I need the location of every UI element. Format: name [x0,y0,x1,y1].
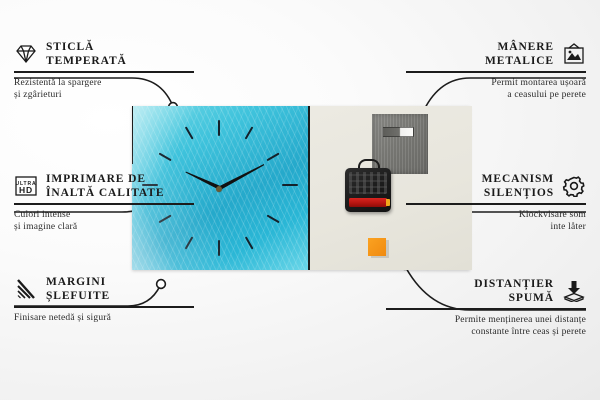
divider [14,71,194,73]
down-arrow-pad-icon [562,280,586,302]
ultra-hd-icon: ultra HD [14,175,38,197]
divider [386,308,586,310]
svg-text:HD: HD [19,185,33,195]
feature-title-line1: STICLĂ [46,41,94,53]
feature-title-line2: TEMPERATĂ [46,55,127,67]
feature-subtitle: Finisare netedă și sigură [14,312,194,324]
feature-title-line2: ȘLEFUITE [46,290,110,302]
feature-heading: MÂNERE METALICE [406,40,586,68]
clock-mechanism [345,168,391,212]
clock-minute-hand [219,163,265,190]
feature-title-line1: MÂNERE [497,41,554,53]
feature-subtitle: Culori intense și imagine clară [14,209,194,233]
feature-silent-mechanism: MECANISM SILENȚIOS Klockvisare som inte … [406,172,586,233]
feature-tempered-glass: STICLĂ TEMPERATĂ Rezistentă la spargere … [14,40,194,101]
infographic-stage: STICLĂ TEMPERATĂ Rezistentă la spargere … [0,0,600,400]
divider [406,71,586,73]
metal-hanger-plate [372,114,428,174]
feature-hd-print: ultra HD IMPRIMARE DE ÎNALTĂ CALITATE Cu… [14,172,194,233]
feature-title-line1: MARGINI [46,276,106,288]
diagonal-stripes-icon [14,278,38,300]
feature-title-line2: SPUMĂ [509,292,554,304]
feature-subtitle: Klockvisare som inte låter [406,209,586,233]
gear-icon [562,175,586,197]
feature-heading: STICLĂ TEMPERATĂ [14,40,194,68]
feature-title-line1: MECANISM [482,173,554,185]
feature-title-line1: DISTANȚIER [474,278,554,290]
feature-title-line2: ÎNALTĂ CALITATE [46,187,164,199]
divider [14,203,194,205]
feature-subtitle: Rezistentă la spargere și zgârieturi [14,77,194,101]
feature-title-line1: IMPRIMARE DE [46,173,146,185]
hanger-keyhole-slot [382,127,414,137]
feature-heading: DISTANȚIER SPUMĂ [386,277,586,305]
mechanism-battery [349,198,387,207]
feature-subtitle: Permite menținerea unei distanțe constan… [386,314,586,338]
feature-title-line2: SILENȚIOS [484,187,554,199]
feature-polished-edges: MARGINI ȘLEFUITE Finisare netedă și sigu… [14,275,194,324]
feature-subtitle: Permit montarea ușoară a ceasului pe per… [406,77,586,101]
feature-heading: ultra HD IMPRIMARE DE ÎNALTĂ CALITATE [14,172,194,200]
mechanism-grille [349,172,387,194]
picture-frame-hanger-icon [562,43,586,65]
divider [14,306,194,308]
diamond-icon [14,43,38,65]
divider [406,203,586,205]
clock-second-hand [132,106,133,164]
feature-heading: MECANISM SILENȚIOS [406,172,586,200]
feature-foam-spacer: DISTANȚIER SPUMĂ Permite menținerea unei… [386,277,586,338]
foam-spacer-part [368,238,386,256]
clock-center-pin [216,186,222,192]
feature-title-line2: METALICE [485,55,554,67]
feature-metal-handles: MÂNERE METALICE Permit montarea ușoară a… [406,40,586,101]
feature-heading: MARGINI ȘLEFUITE [14,275,194,303]
